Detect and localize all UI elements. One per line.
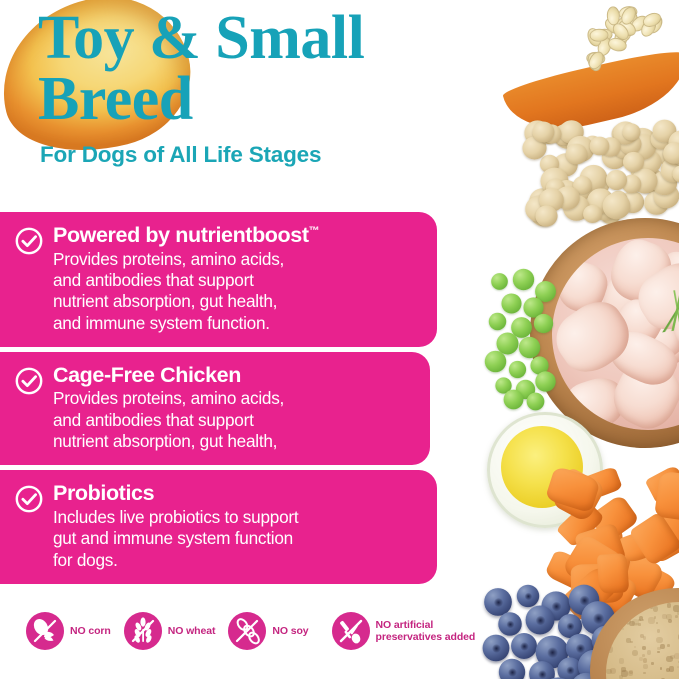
raw-chicken-image: [552, 238, 679, 430]
no-wheat-icon: [124, 612, 162, 650]
ground-meal-image: [606, 602, 679, 679]
oil-image: [501, 426, 583, 508]
sweet-potato-chunks-image: [548, 470, 679, 610]
header: Toy & Small Breed For Dogs of All Life S…: [38, 8, 508, 168]
check-circle-icon: [14, 366, 44, 396]
badge-no-soy: NO soy: [228, 612, 308, 650]
benefit-card-description: Provides proteins, amino acids, and anti…: [53, 249, 421, 334]
benefit-card-title-text: Cage-Free Chicken: [53, 363, 241, 387]
no-corn-icon: [26, 612, 64, 650]
benefit-card-title: Cage-Free Chicken: [53, 364, 414, 387]
benefit-card-probiotics: Probiotics Includes live probiotics to s…: [0, 470, 437, 584]
green-peas-image: [484, 268, 556, 398]
trademark-symbol: ™: [309, 225, 320, 237]
oil-bowl: [487, 412, 603, 528]
benefit-card-body: Powered by nutrientboost™ Provides prote…: [53, 224, 421, 334]
meal-bowl: [590, 588, 679, 679]
check-circle-icon: [14, 226, 44, 256]
benefit-card-description: Includes live probiotics to support gut …: [53, 507, 421, 571]
blueberries-image: [480, 582, 630, 679]
benefit-card-title-text: Probiotics: [53, 481, 154, 505]
page-subtitle: For Dogs of All Life Stages: [40, 142, 508, 168]
badge-label: NO wheat: [168, 625, 216, 637]
pumpkin-seeds: [571, 0, 674, 75]
benefit-card-nutrientboost: Powered by nutrientboost™ Provides prote…: [0, 212, 437, 347]
badge-label: NO corn: [70, 625, 111, 637]
wooden-bowl: [530, 218, 679, 448]
benefit-card-body: Cage-Free Chicken Provides proteins, ami…: [53, 364, 414, 453]
benefit-cards: Powered by nutrientboost™ Provides prote…: [0, 212, 460, 584]
page-title: Toy & Small Breed: [38, 8, 508, 130]
no-soy-icon: [228, 612, 266, 650]
benefit-card-title: Powered by nutrientboost™: [53, 224, 421, 247]
chickpeas-image: [520, 120, 679, 228]
benefit-card-description: Provides proteins, amino acids, and anti…: [53, 388, 414, 452]
dill-sprig-image: [651, 287, 679, 333]
check-circle-icon: [14, 484, 44, 514]
badge-no-corn: NO corn: [26, 612, 111, 650]
pumpkin-rind: [501, 46, 679, 142]
benefit-card-title-text: Powered by nutrientboost: [53, 223, 309, 247]
ingredient-exclusion-badges: NO corn NO whe: [26, 612, 475, 650]
benefit-card-body: Probiotics Includes live probiotics to s…: [53, 482, 421, 571]
benefit-card-title: Probiotics: [53, 482, 421, 505]
badge-label: NO soy: [272, 625, 308, 637]
badge-no-artificial-preservatives: NO artificial preservatives added: [332, 612, 476, 650]
badge-no-wheat: NO wheat: [124, 612, 216, 650]
product-feature-panel: Toy & Small Breed For Dogs of All Life S…: [0, 0, 679, 679]
badge-label: NO artificial preservatives added: [376, 619, 476, 643]
benefit-card-cage-free-chicken: Cage-Free Chicken Provides proteins, ami…: [0, 352, 430, 466]
no-artificial-preservatives-icon: [332, 612, 370, 650]
